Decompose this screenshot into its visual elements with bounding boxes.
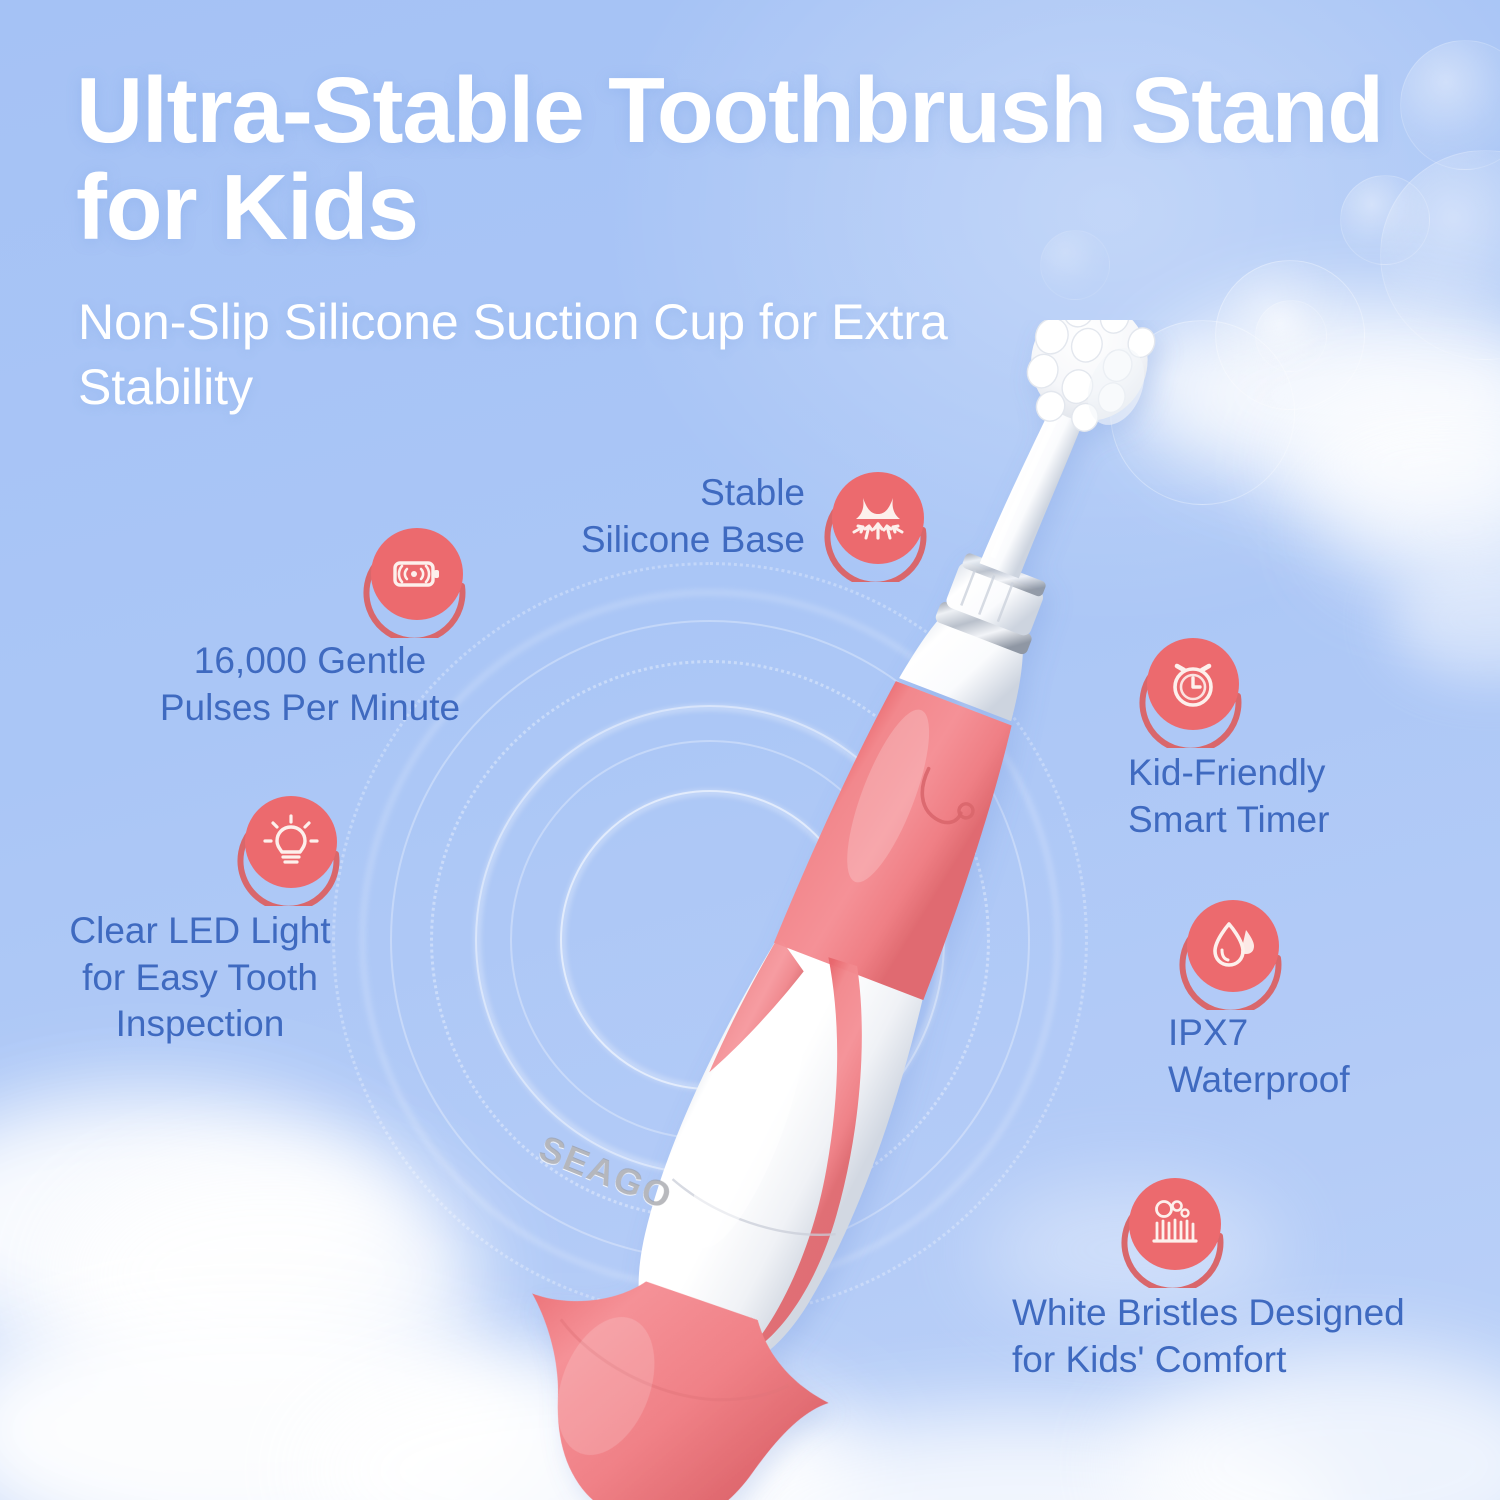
feature-smart-timer-label: Kid-Friendly Smart Timer xyxy=(1128,750,1468,843)
water-droplet-icon xyxy=(1178,900,1288,1010)
feature-led-light: Clear LED Light for Easy Tooth Inspectio… xyxy=(50,908,350,1048)
feature-waterproof-label: IPX7 Waterproof xyxy=(1168,1010,1500,1103)
feature-waterproof: IPX7 Waterproof xyxy=(1168,1010,1500,1103)
lightbulb-icon xyxy=(236,796,346,906)
feature-silicone-base: Stable Silicone Base xyxy=(545,470,805,563)
feature-smart-timer: Kid-Friendly Smart Timer xyxy=(1128,750,1468,843)
feature-led-light-label: Clear LED Light for Easy Tooth Inspectio… xyxy=(50,908,350,1048)
feature-bristles-label: White Bristles Designed for Kids' Comfor… xyxy=(1012,1290,1472,1383)
bristles-bubbles-icon xyxy=(1120,1178,1230,1288)
feature-pulses: 16,000 Gentle Pulses Per Minute xyxy=(140,638,480,731)
feature-bristles: White Bristles Designed for Kids' Comfor… xyxy=(1012,1290,1472,1383)
page-title: Ultra-Stable Toothbrush Stand for Kids xyxy=(76,62,1466,255)
alarm-clock-icon xyxy=(1138,638,1248,748)
feature-silicone-base-label: Stable Silicone Base xyxy=(545,470,805,563)
vibrating-battery-icon xyxy=(362,528,472,638)
suction-cup-icon xyxy=(823,472,933,582)
page-subtitle: Non-Slip Silicone Suction Cup for Extra … xyxy=(78,290,1068,420)
feature-pulses-label: 16,000 Gentle Pulses Per Minute xyxy=(140,638,480,731)
